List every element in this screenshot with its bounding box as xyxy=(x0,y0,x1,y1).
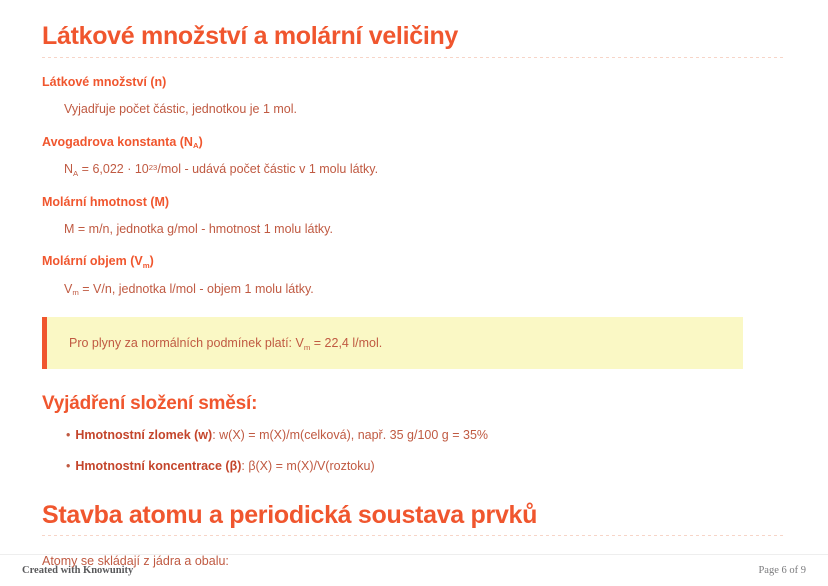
objem-body-subscript: m xyxy=(72,288,78,297)
avogadro-heading-suffix: ) xyxy=(199,135,203,149)
entry-molarni-objem: Molární objem (Vm) Vm = V/n, jednotka l/… xyxy=(42,254,786,297)
avogadro-body-exponent: 23 xyxy=(149,163,158,172)
avogadro-heading-prefix: Avogadrova konstanta (N xyxy=(42,135,193,149)
callout-text-suffix: = 22,4 l/mol. xyxy=(310,336,382,350)
entry-molarni-objem-heading: Molární objem (Vm) xyxy=(42,254,786,270)
objem-heading-subscript: m xyxy=(143,261,150,270)
objem-body-suffix: = V/n, jednotka l/mol - objem 1 molu lát… xyxy=(79,282,314,296)
entry-molarni-hmotnost-heading: Molární hmotnost (M) xyxy=(42,195,786,211)
entry-molarni-hmotnost: Molární hmotnost (M) M = m/n, jednotka g… xyxy=(42,195,786,238)
entry-latkove-mnozstvi: Látkové množství (n) Vyjadřuje počet čás… xyxy=(42,75,786,118)
entry-avogadrova-konstanta-heading: Avogadrova konstanta (NA) xyxy=(42,135,786,151)
avogadro-body-suffix: /mol - udává počet částic v 1 molu látky… xyxy=(157,162,378,176)
avogadro-body-mid: = 6,022 · 10 xyxy=(78,162,149,176)
list-item: •Hmotnostní koncentrace (β): β(X) = m(X)… xyxy=(66,458,786,474)
page-footer: Created with Knowunity Page 6 of 9 xyxy=(0,554,828,586)
avogadro-heading-subscript: A xyxy=(193,141,199,150)
entry-latkove-mnozstvi-body: Vyjadřuje počet částic, jednotkou je 1 m… xyxy=(64,101,786,117)
objem-heading-suffix: ) xyxy=(150,254,154,268)
callout-box: Pro plyny za normálních podmínek platí: … xyxy=(42,317,743,369)
section2-title: Vyjádření složení směsí: xyxy=(42,393,786,416)
bullet-marker: • xyxy=(66,428,70,442)
bullet-value: : β(X) = m(X)/V(roztoku) xyxy=(241,459,374,473)
section3-title: Stavba atomu a periodická soustava prvků xyxy=(42,501,786,530)
footer-attribution: Created with Knowunity xyxy=(22,565,133,576)
bullet-marker: • xyxy=(66,459,70,473)
document-page: Látkové množství a molární veličiny Látk… xyxy=(0,0,828,586)
callout-text-prefix: Pro plyny za normálních podmínek platí: … xyxy=(69,336,304,350)
avogadro-body-prefix: N xyxy=(64,162,73,176)
section2-bullet-list: •Hmotnostní zlomek (w): w(X) = m(X)/m(ce… xyxy=(42,427,786,475)
entry-avogadrova-konstanta-body: NA = 6,022 · 1023/mol - udává počet část… xyxy=(64,161,786,177)
footer-page-number: Page 6 of 9 xyxy=(758,565,806,576)
entry-molarni-hmotnost-body: M = m/n, jednotka g/mol - hmotnost 1 mol… xyxy=(64,221,786,237)
entry-avogadrova-konstanta: Avogadrova konstanta (NA) NA = 6,022 · 1… xyxy=(42,135,786,178)
bullet-label: Hmotnostní koncentrace (β) xyxy=(75,459,241,473)
entry-molarni-objem-body: Vm = V/n, jednotka l/mol - objem 1 molu … xyxy=(64,281,786,297)
callout-text-subscript: m xyxy=(304,343,310,352)
callout-text: Pro plyny za normálních podmínek platí: … xyxy=(47,335,382,351)
section1-title-rule xyxy=(42,57,786,58)
bullet-value: : w(X) = m(X)/m(celková), např. 35 g/100… xyxy=(212,428,488,442)
entry-latkove-mnozstvi-heading: Látkové množství (n) xyxy=(42,75,786,91)
avogadro-body-subscript: A xyxy=(73,169,78,178)
bullet-label: Hmotnostní zlomek (w) xyxy=(75,428,212,442)
section1-title: Látkové množství a molární veličiny xyxy=(42,0,786,51)
section3-title-rule xyxy=(42,535,786,536)
list-item: •Hmotnostní zlomek (w): w(X) = m(X)/m(ce… xyxy=(66,427,786,443)
objem-heading-prefix: Molární objem (V xyxy=(42,254,143,268)
